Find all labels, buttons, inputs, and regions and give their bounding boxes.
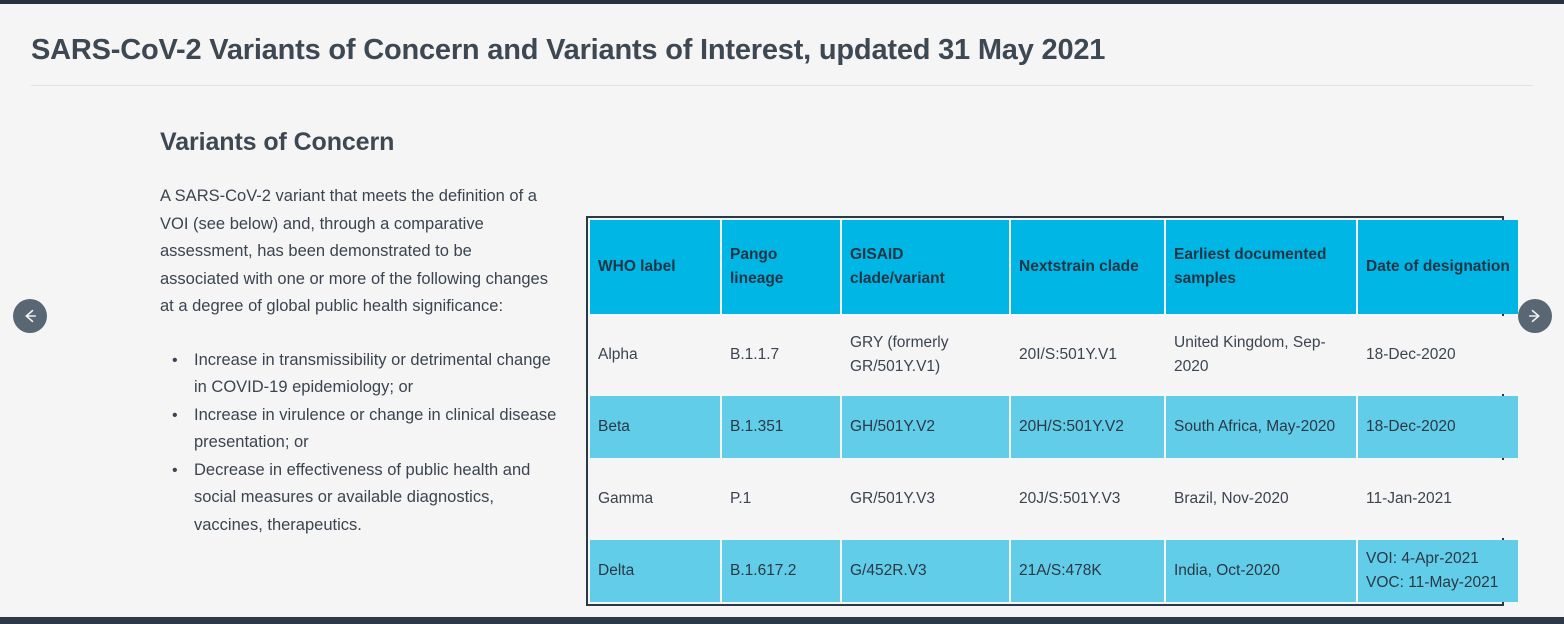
table-row: Delta B.1.617.2 G/452R.V3 21A/S:478K Ind… bbox=[590, 540, 1518, 602]
table-row: Beta B.1.351 GH/501Y.V2 20H/S:501Y.V2 So… bbox=[590, 396, 1518, 458]
bottom-chrome-bar bbox=[0, 617, 1564, 624]
cell-date-of-designation: VOI: 4-Apr-2021 VOC: 11-May-2021 bbox=[1358, 540, 1518, 602]
next-slide-button[interactable] bbox=[1518, 299, 1552, 333]
cell-pango-lineage: B.1.1.7 bbox=[722, 316, 840, 394]
list-item: Increase in transmissibility or detrimen… bbox=[182, 347, 562, 402]
cell-date-of-designation: 18-Dec-2020 bbox=[1358, 316, 1518, 394]
column-header-nextstrain-clade: Nextstrain clade bbox=[1011, 220, 1164, 314]
cell-date-of-designation: 18-Dec-2020 bbox=[1358, 396, 1518, 458]
criteria-bullet-list: Increase in transmissibility or detrimen… bbox=[160, 347, 562, 540]
cell-nextstrain-clade: 21A/S:478K bbox=[1011, 540, 1164, 602]
previous-slide-button[interactable] bbox=[13, 299, 47, 333]
cell-gisaid-clade: GH/501Y.V2 bbox=[842, 396, 1009, 458]
column-header-date-of-designation: Date of designation bbox=[1358, 220, 1518, 314]
cell-gisaid-clade: GR/501Y.V3 bbox=[842, 460, 1009, 538]
cell-earliest-samples: Brazil, Nov-2020 bbox=[1166, 460, 1356, 538]
cell-earliest-samples: South Africa, May-2020 bbox=[1166, 396, 1356, 458]
variants-of-concern-table: WHO label Pango lineage GISAID clade/var… bbox=[586, 216, 1504, 606]
cell-who-label: Gamma bbox=[590, 460, 720, 538]
cell-who-label: Beta bbox=[590, 396, 720, 458]
title-divider bbox=[31, 85, 1533, 86]
cell-nextstrain-clade: 20J/S:501Y.V3 bbox=[1011, 460, 1164, 538]
left-content-column: Variants of Concern A SARS-CoV-2 variant… bbox=[160, 128, 556, 539]
table-row: Alpha B.1.1.7 GRY (formerly GR/501Y.V1) … bbox=[590, 316, 1518, 394]
cell-date-of-designation: 11-Jan-2021 bbox=[1358, 460, 1518, 538]
list-item: Increase in virulence or change in clini… bbox=[182, 402, 562, 457]
column-header-gisaid-clade: GISAID clade/variant bbox=[842, 220, 1009, 314]
cell-earliest-samples: India, Oct-2020 bbox=[1166, 540, 1356, 602]
column-header-who-label: WHO label bbox=[590, 220, 720, 314]
cell-pango-lineage: P.1 bbox=[722, 460, 840, 538]
intro-paragraph: A SARS-CoV-2 variant that meets the defi… bbox=[160, 183, 550, 321]
arrow-left-icon bbox=[21, 307, 39, 325]
table-row: Gamma P.1 GR/501Y.V3 20J/S:501Y.V3 Brazi… bbox=[590, 460, 1518, 538]
table-header-row: WHO label Pango lineage GISAID clade/var… bbox=[590, 220, 1518, 314]
cell-earliest-samples: United Kingdom, Sep-2020 bbox=[1166, 316, 1356, 394]
arrow-right-icon bbox=[1526, 307, 1544, 325]
column-header-pango-lineage: Pango lineage bbox=[722, 220, 840, 314]
cell-who-label: Delta bbox=[590, 540, 720, 602]
cell-nextstrain-clade: 20I/S:501Y.V1 bbox=[1011, 316, 1164, 394]
column-header-earliest-samples: Earliest documented samples bbox=[1166, 220, 1356, 314]
slide-page: SARS-CoV-2 Variants of Concern and Varia… bbox=[0, 4, 1564, 617]
cell-nextstrain-clade: 20H/S:501Y.V2 bbox=[1011, 396, 1164, 458]
cell-who-label: Alpha bbox=[590, 316, 720, 394]
page-title: SARS-CoV-2 Variants of Concern and Varia… bbox=[31, 34, 1105, 67]
cell-gisaid-clade: G/452R.V3 bbox=[842, 540, 1009, 602]
section-heading: Variants of Concern bbox=[160, 128, 556, 157]
list-item: Decrease in effectiveness of public heal… bbox=[182, 457, 562, 540]
cell-pango-lineage: B.1.617.2 bbox=[722, 540, 840, 602]
cell-pango-lineage: B.1.351 bbox=[722, 396, 840, 458]
cell-gisaid-clade: GRY (formerly GR/501Y.V1) bbox=[842, 316, 1009, 394]
